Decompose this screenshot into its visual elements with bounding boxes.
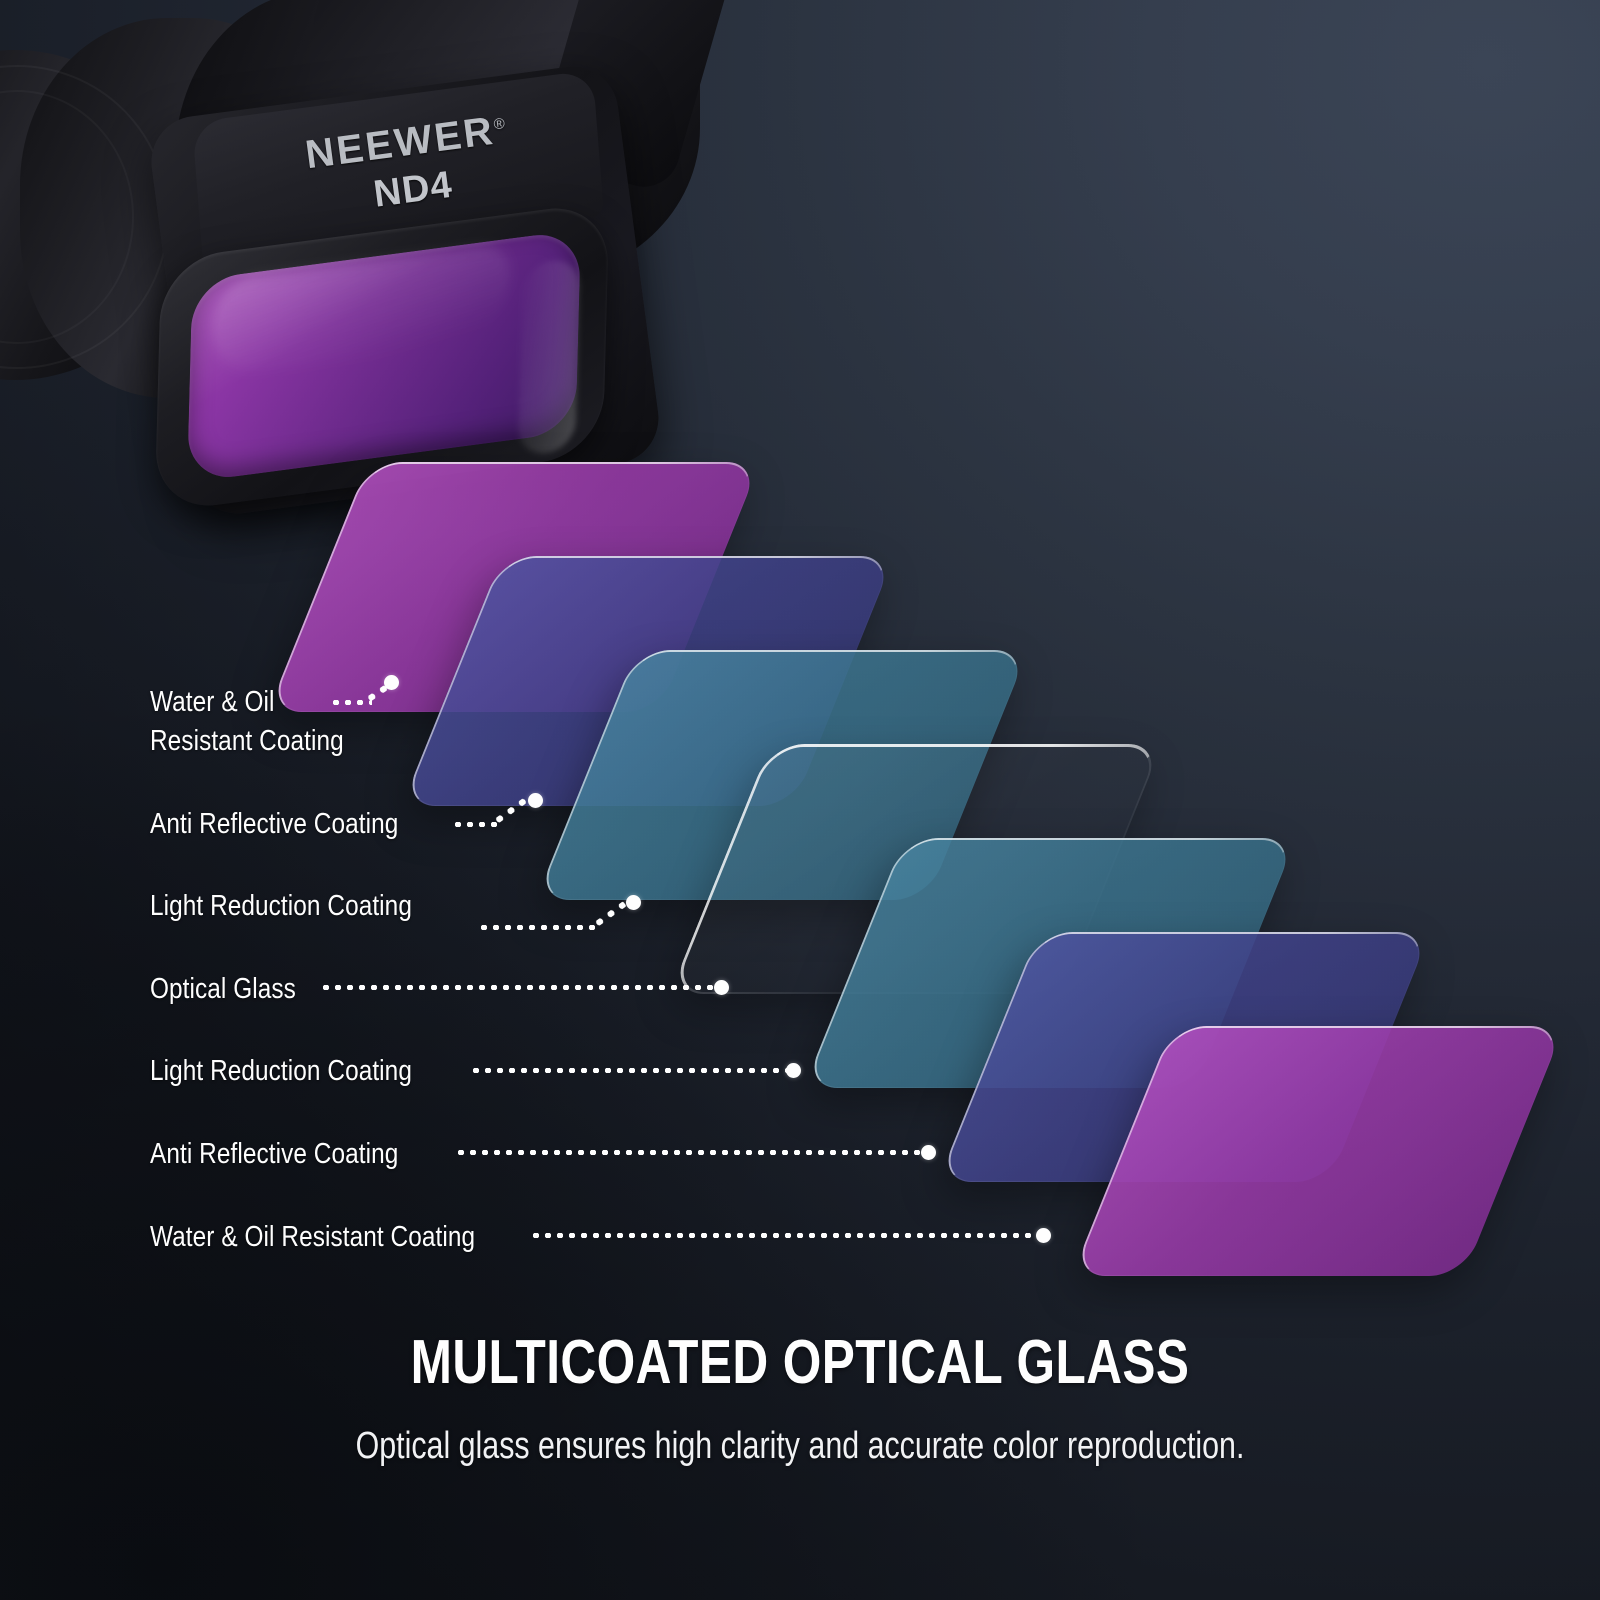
page-subline: Optical glass ensures high clarity and a…: [160, 1425, 1440, 1468]
callout-label-water-oil-resistant-top: Water & Oil Resistant Coating: [150, 683, 344, 760]
callout-label-optical-glass: Optical Glass: [150, 970, 296, 1009]
product-infographic: NEEWER® ND4 Water & Oil Resistant Coatin…: [0, 0, 1600, 1600]
callout-label-anti-reflective-top: Anti Reflective Coating: [150, 805, 398, 844]
callout-label-light-reduction-top: Light Reduction Coating: [150, 887, 412, 926]
callout-label-anti-reflective-bottom: Anti Reflective Coating: [150, 1135, 398, 1174]
page-headline: MULTICOATED OPTICAL GLASS: [160, 1327, 1440, 1398]
callout-label-light-reduction-bottom: Light Reduction Coating: [150, 1052, 412, 1091]
callout-label-water-oil-resistant-bottom: Water & Oil Resistant Coating: [150, 1218, 475, 1257]
